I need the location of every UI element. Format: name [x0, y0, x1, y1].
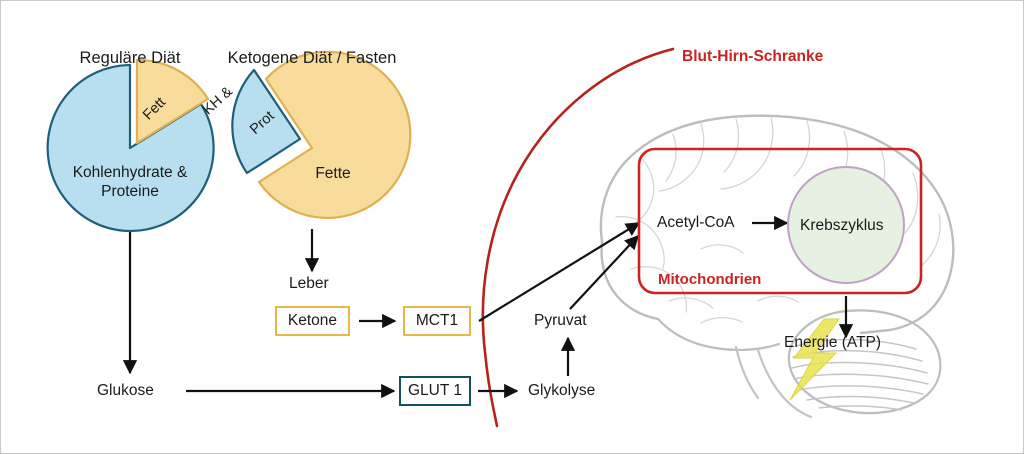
node-pyruvat: Pyruvat [534, 312, 587, 329]
node-leber: Leber [289, 275, 329, 292]
pie-slice-label-fette: Fette [283, 164, 383, 183]
blood-brain-barrier-arc [483, 49, 673, 426]
node-acetyl-coa: Acetyl-CoA [657, 214, 735, 231]
pie-chart-regular-diet [48, 60, 214, 231]
node-energie-atp: Energie (ATP) [784, 334, 881, 351]
annotation-blood-brain-barrier: Blut-Hirn-Schranke [682, 48, 823, 65]
node-glykolyse: Glykolyse [528, 382, 595, 399]
diagram-figure: Reguläre Diät Ketogene Diät / Fasten Fet… [0, 0, 1024, 454]
annotation-mitochondrien: Mitochondrien [658, 272, 761, 289]
pie-title-keto-diet: Ketogene Diät / Fasten [222, 49, 402, 67]
pie-slice-label-carbs-proteins: Kohlenhydrate & Proteine [55, 163, 205, 202]
pie-title-regular-diet: Reguläre Diät [40, 49, 220, 67]
node-glukose: Glukose [97, 382, 154, 399]
node-glut1-box: GLUT 1 [399, 376, 471, 406]
carbs-proteins-line1: Kohlenhydrate & [73, 164, 188, 181]
carbs-proteins-line2: Proteine [101, 183, 159, 200]
node-krebszyklus: Krebszyklus [800, 217, 884, 234]
node-ketone-box: Ketone [275, 306, 350, 336]
arrow-pyruvat-to-mitochondria [570, 236, 638, 309]
arrow-mct1-to-mitochondria [479, 223, 639, 321]
node-mct1-box: MCT1 [403, 306, 471, 336]
flow-arrows [130, 223, 846, 391]
